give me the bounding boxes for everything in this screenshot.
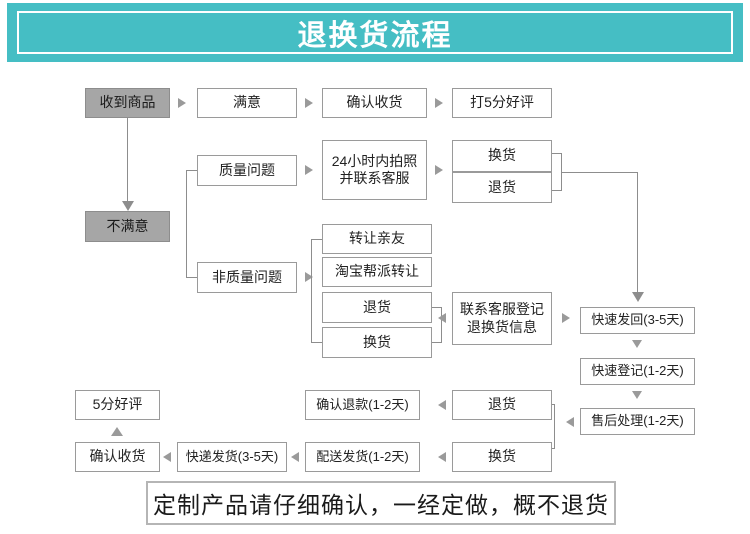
- connector-down-to-fast-return: [637, 172, 638, 294]
- bracket-non-quality-options: [311, 239, 322, 343]
- node-photo-and-contact-service[interactable]: 24小时内拍照 并联系客服: [322, 140, 427, 200]
- node-taobao-gang-transfer[interactable]: 淘宝帮派转让: [322, 257, 432, 287]
- node-fast-register[interactable]: 快速登记(1-2天): [580, 358, 695, 385]
- node-received-goods[interactable]: 收到商品: [85, 88, 170, 118]
- header-banner: 退换货流程: [7, 3, 743, 62]
- node-exchange-non-quality[interactable]: 换货: [322, 327, 432, 358]
- arrow-right-icon: [435, 98, 443, 108]
- arrow-down-icon: [632, 391, 642, 399]
- connector-received-to-unsatisfied: [127, 118, 128, 203]
- node-fast-send-back[interactable]: 快速发回(3-5天): [580, 307, 695, 334]
- connector-quality-to-right-column: [562, 172, 638, 173]
- page-title: 退换货流程: [297, 12, 452, 54]
- custom-product-notice: 定制产品请仔细确认，一经定做，概不退货: [146, 481, 616, 525]
- node-return-non-quality[interactable]: 退货: [322, 292, 432, 323]
- node-five-star-bottom[interactable]: 5分好评: [75, 390, 160, 420]
- arrow-left-icon: [291, 452, 299, 462]
- arrow-right-icon: [562, 313, 570, 323]
- node-quality-issue[interactable]: 质量问题: [197, 155, 297, 186]
- node-return-quality[interactable]: 退货: [452, 172, 552, 203]
- arrow-left-icon: [566, 417, 574, 427]
- arrow-down-icon: [122, 201, 134, 211]
- bracket-quality-results: [552, 153, 562, 191]
- arrow-right-icon: [435, 165, 443, 175]
- node-confirm-receipt-top[interactable]: 确认收货: [322, 88, 427, 118]
- node-non-quality-issue[interactable]: 非质量问题: [197, 262, 297, 293]
- arrow-left-icon: [438, 452, 446, 462]
- arrow-left-icon: [163, 452, 171, 462]
- node-confirm-receipt-bottom[interactable]: 确认收货: [75, 442, 160, 472]
- arrow-left-icon: [438, 400, 446, 410]
- node-delivery-shipping[interactable]: 配送发货(1-2天): [305, 442, 420, 472]
- bracket-issue-types: [186, 170, 197, 278]
- arrow-right-icon: [305, 98, 313, 108]
- arrow-right-icon: [305, 165, 313, 175]
- arrow-down-icon: [632, 340, 642, 348]
- returns-exchange-flowchart: 退换货流程 收到商品 满意 确认收货 打5分好评 质量问题 24小时内拍照 并联…: [0, 0, 750, 534]
- node-return-bottom[interactable]: 退货: [452, 390, 552, 420]
- node-five-star-rating[interactable]: 打5分好评: [452, 88, 552, 118]
- node-transfer-to-friends[interactable]: 转让亲友: [322, 224, 432, 254]
- node-confirm-refund[interactable]: 确认退款(1-2天): [305, 390, 420, 420]
- node-express-shipping[interactable]: 快递发货(3-5天): [177, 442, 287, 472]
- arrow-up-icon: [111, 427, 123, 436]
- arrow-right-icon: [178, 98, 186, 108]
- node-satisfied[interactable]: 满意: [197, 88, 297, 118]
- node-unsatisfied[interactable]: 不满意: [85, 211, 170, 242]
- node-exchange-quality[interactable]: 换货: [452, 140, 552, 172]
- node-exchange-bottom[interactable]: 换货: [452, 442, 552, 472]
- node-contact-service-register[interactable]: 联系客服登记 退换货信息: [452, 292, 552, 345]
- node-after-sales-processing[interactable]: 售后处理(1-2天): [580, 408, 695, 435]
- arrow-down-icon: [632, 292, 644, 302]
- arrow-left-icon: [438, 313, 446, 323]
